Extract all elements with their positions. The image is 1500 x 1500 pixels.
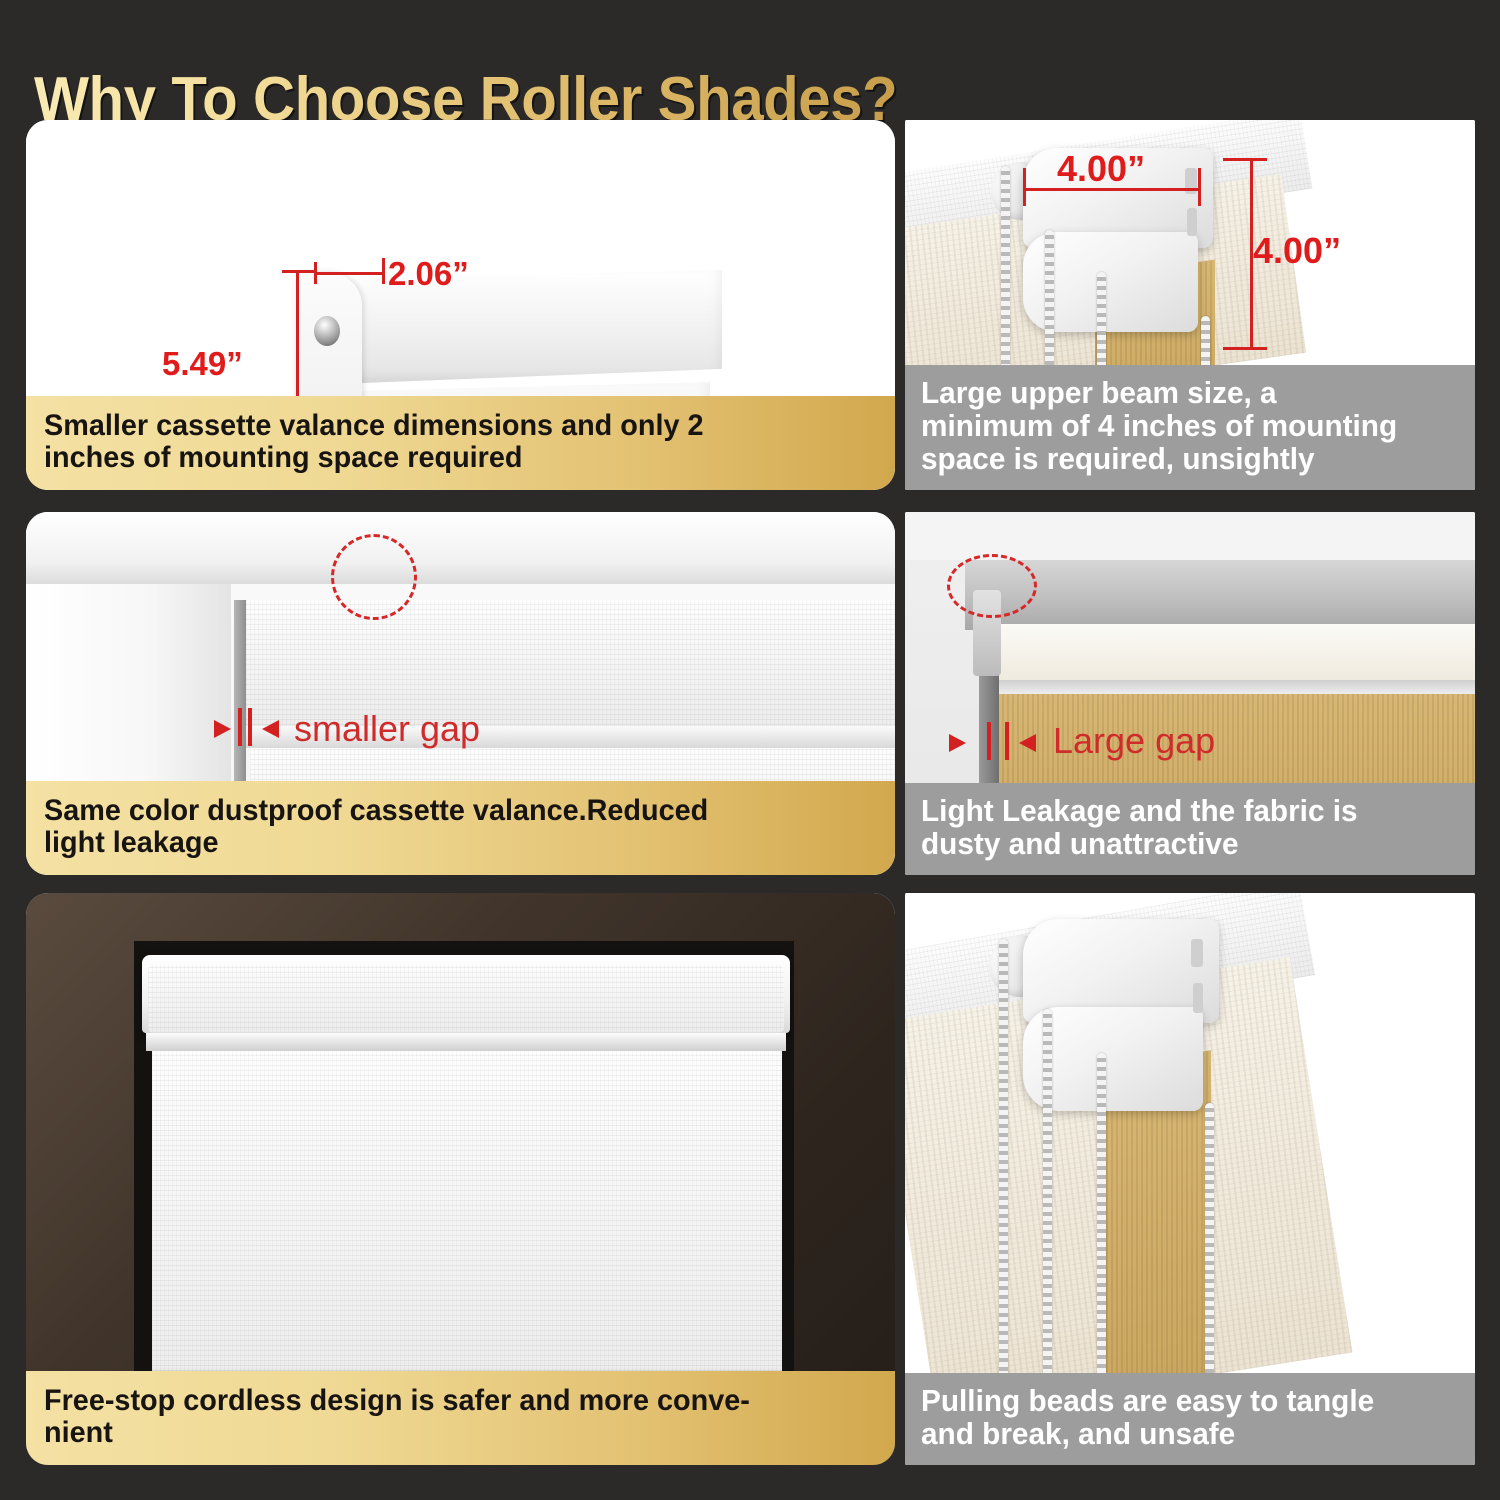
shade-valance-lip — [146, 1033, 786, 1051]
large-gap-arrow-right — [1019, 734, 1036, 752]
large-gap-tick-1 — [987, 722, 991, 760]
gap-label-large: Large gap — [1053, 720, 1215, 762]
gap-tick-2 — [248, 708, 252, 746]
panel-6-caption-line-2: and break, and unsafe — [921, 1418, 1437, 1451]
window-casing-top — [26, 512, 895, 584]
panel-4-large-gap: Large gap Light Leakage and the fabric i… — [905, 512, 1475, 875]
shade-fabric-panel — [152, 1051, 782, 1391]
beam-dim-height-tick-bottom — [1223, 347, 1267, 350]
beam-dim-height-label: 4.00” — [1253, 230, 1341, 272]
dim-height-label: 5.49” — [162, 345, 243, 383]
large-gap-tick-2 — [1005, 722, 1009, 760]
panel-4-caption-line-1: Light Leakage and the fabric is — [921, 795, 1437, 828]
panel-5-caption: Free-stop cordless design is safer and m… — [26, 1371, 895, 1465]
wall-upper — [905, 512, 1475, 560]
panel-1-caption-line-1: Smaller cassette valance dimensions and … — [44, 410, 844, 442]
dim-width-line — [316, 272, 384, 275]
cassette-screw-upper — [314, 316, 340, 346]
panel-1-caption-line-2: inches of mounting space required — [44, 442, 844, 474]
panel-6-caption-line-1: Pulling beads are easy to tangle — [921, 1385, 1437, 1418]
panel-1-smaller-cassette: 2.06” 5.49” Smaller cassette valance dim… — [26, 120, 895, 490]
panel-5-caption-line-1: Free-stop cordless design is safer and m… — [44, 1385, 844, 1417]
panel-3-smaller-gap: smaller gap Same color dustproof cassett… — [26, 512, 895, 875]
headrail-edge — [989, 680, 1475, 694]
panel-2-large-beam: 4.00” 4.00” Large upper beam size, a min… — [905, 120, 1475, 490]
panel-2-caption: Large upper beam size, a minimum of 4 in… — [905, 365, 1475, 490]
dim-width-tick-left — [314, 262, 317, 284]
bead-chain-3 — [1097, 1053, 1106, 1387]
gap-tick-1 — [238, 708, 242, 746]
beam-dim-width-tick-right — [1198, 168, 1201, 206]
beam-dim-height-tick-top — [1223, 158, 1267, 161]
highlight-circle-smaller-gap — [331, 534, 417, 620]
headrail-white — [989, 624, 1475, 682]
panel-4-caption-line-2: dusty and unattractive — [921, 828, 1437, 861]
panel-3-caption-line-2: light leakage — [44, 827, 844, 859]
infographic-root: Why To Choose Roller Shades? 2.06” 5.49”… — [0, 0, 1500, 1500]
panel-3-caption: Same color dustproof cassette valance.Re… — [26, 781, 895, 875]
beam-bracket-slot-2 — [1187, 208, 1197, 236]
gap-label-smaller: smaller gap — [294, 708, 480, 750]
panel-2-caption-line-3: space is required, unsightly — [921, 443, 1437, 476]
dim-width-label: 2.06” — [388, 255, 469, 293]
highlight-circle-large-gap — [947, 554, 1037, 618]
panel-5-caption-line-2: nient — [44, 1417, 844, 1449]
panel-2-caption-line-2: minimum of 4 inches of mounting — [921, 410, 1437, 443]
beads-bracket-slot-2 — [1193, 983, 1203, 1013]
panel-2-caption-line-1: Large upper beam size, a — [921, 377, 1437, 410]
cassette-top-shell — [312, 270, 722, 385]
beam-dim-width-label: 4.00” — [1057, 148, 1145, 190]
panel-3-caption-line-1: Same color dustproof cassette valance.Re… — [44, 795, 844, 827]
shade-valance-face — [148, 965, 784, 1033]
gap-arrow-right — [262, 720, 279, 738]
bead-chain-4 — [1205, 1103, 1214, 1387]
panel-1-caption: Smaller cassette valance dimensions and … — [26, 396, 895, 490]
bead-chain-2 — [1043, 1009, 1052, 1385]
dim-height-tick-top — [282, 270, 314, 273]
beam-dim-width-tick-left — [1023, 168, 1026, 206]
panel-6-caption: Pulling beads are easy to tangle and bre… — [905, 1373, 1475, 1465]
large-gap-arrow-left — [949, 734, 966, 752]
bead-chain-1 — [999, 939, 1008, 1379]
gap-arrow-left — [214, 720, 231, 738]
beads-bracket-slot-1 — [1191, 939, 1203, 967]
headrail-gray — [965, 560, 1475, 630]
panel-5-cordless: Free-stop cordless design is safer and m… — [26, 893, 895, 1465]
panel-4-caption: Light Leakage and the fabric is dusty an… — [905, 783, 1475, 875]
dim-width-tick-right — [382, 258, 385, 284]
panel-6-pulling-beads: Pulling beads are easy to tangle and bre… — [905, 893, 1475, 1465]
